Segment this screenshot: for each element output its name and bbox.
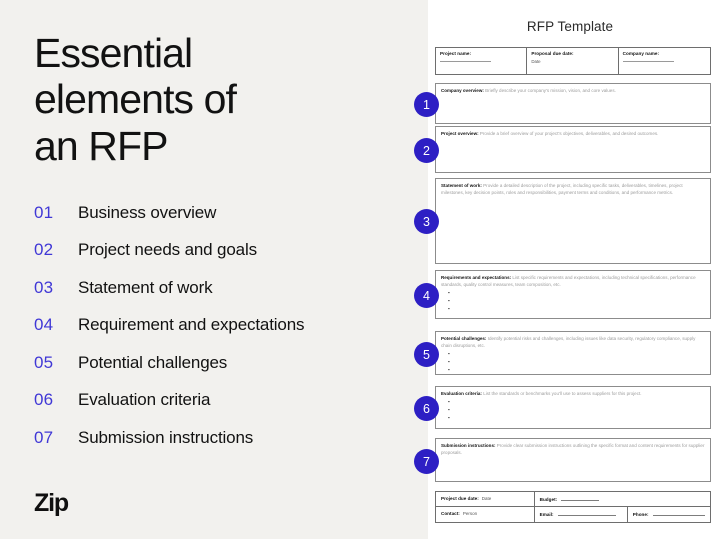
section-bullet-list [448, 400, 705, 421]
section-body: Provide a brief overview of your project… [480, 131, 659, 136]
section-text: Evaluation criteria: List the standards … [441, 391, 705, 398]
field-value: Date [531, 59, 613, 64]
document-title: RFP Template [428, 0, 720, 34]
headline-line-1: Essential [34, 30, 364, 76]
footer-row-1: Project due date: Date Budget: [436, 492, 710, 507]
list-item: 03 Statement of work [34, 278, 402, 298]
section-requirements-and-expectations: 4 Requirements and expectations: List sp… [435, 270, 711, 319]
section-badge-5: 5 [414, 342, 439, 367]
left-content-panel: Essential elements of an RFP 01 Business… [0, 0, 428, 539]
list-item: 06 Evaluation criteria [34, 390, 402, 410]
field-blank-rule [653, 511, 705, 516]
template-footer-table: Project due date: Date Budget: Contact: … [435, 491, 711, 523]
field-blank-rule [561, 496, 599, 501]
section-title: Submission instructions: [441, 443, 495, 448]
field-label: Project due date: [441, 496, 479, 501]
section-badge-6: 6 [414, 396, 439, 421]
field-label: Budget: [540, 497, 558, 502]
section-text: Statement of work: Provide a detailed de… [441, 183, 705, 197]
list-item-label: Potential challenges [78, 353, 227, 373]
bullet-item [448, 368, 705, 373]
section-title: Project overview: [441, 131, 479, 136]
section-badge-4: 4 [414, 283, 439, 308]
headline-line-3: an RFP [34, 123, 364, 169]
header-field-project-name: Project name: [436, 48, 527, 74]
section-text: Company overview: Briefly describe your … [441, 88, 705, 95]
slide-root: Essential elements of an RFP 01 Business… [0, 0, 720, 539]
footer-field-contact: Contact: Person [436, 507, 535, 522]
section-body: List the standards or benchmarks you'll … [483, 391, 641, 396]
section-badge-7: 7 [414, 449, 439, 474]
list-item-label: Project needs and goals [78, 240, 257, 260]
field-label: Email: [540, 512, 554, 517]
list-item-number: 01 [34, 203, 78, 223]
field-label: Company name: [623, 51, 706, 57]
section-submission-instructions: 7 Submission instructions: Provide clear… [435, 438, 711, 482]
list-item: 04 Requirement and expectations [34, 315, 402, 335]
list-item-label: Statement of work [78, 278, 212, 298]
bullet-item [448, 299, 705, 304]
section-text: Requirements and expectations: List spec… [441, 275, 705, 289]
field-value: Date [482, 496, 492, 501]
section-title: Requirements and expectations: [441, 275, 511, 280]
section-bullet-list [448, 352, 705, 373]
section-title: Statement of work: [441, 183, 482, 188]
section-bullet-list [448, 291, 705, 312]
section-title: Company overview: [441, 88, 484, 93]
list-item: 02 Project needs and goals [34, 240, 402, 260]
section-statement-of-work: 3 Statement of work: Provide a detailed … [435, 178, 711, 264]
bullet-item [448, 416, 705, 421]
section-body: Briefly describe your company's mission,… [485, 88, 616, 93]
footer-field-project-due-date: Project due date: Date [436, 492, 535, 506]
header-field-proposal-due-date: Proposal due date: Date [527, 48, 618, 74]
bullet-item [448, 360, 705, 365]
field-blank-rule [440, 61, 491, 62]
section-potential-challenges: 5 Potential challenges: Identify potenti… [435, 331, 711, 375]
footer-row-2: Contact: Person Email: Phone: [436, 507, 710, 522]
footer-field-phone: Phone: [628, 507, 710, 522]
section-badge-3: 3 [414, 209, 439, 234]
list-item-number: 06 [34, 390, 78, 410]
section-company-overview: 1 Company overview: Briefly describe you… [435, 83, 711, 124]
field-blank-rule [623, 61, 675, 62]
list-item-number: 05 [34, 353, 78, 373]
template-header-table: Project name: Proposal due date: Date Co… [435, 47, 711, 75]
bullet-item [448, 400, 705, 405]
header-field-company-name: Company name: [619, 48, 710, 74]
list-item: 05 Potential challenges [34, 353, 402, 373]
list-item-number: 04 [34, 315, 78, 335]
field-label: Phone: [633, 512, 649, 517]
list-item-label: Submission instructions [78, 428, 253, 448]
rfp-template-preview: RFP Template Project name: Proposal due … [428, 0, 720, 539]
bullet-item [448, 307, 705, 312]
field-value: Person [463, 511, 477, 516]
bullet-item [448, 291, 705, 296]
section-title: Evaluation criteria: [441, 391, 482, 396]
bullet-item [448, 352, 705, 357]
field-blank-rule [558, 511, 616, 516]
footer-field-budget: Budget: [535, 492, 710, 506]
section-project-overview: 2 Project overview: Provide a brief over… [435, 126, 711, 173]
bullet-item [448, 408, 705, 413]
list-item-number: 03 [34, 278, 78, 298]
section-evaluation-criteria: 6 Evaluation criteria: List the standard… [435, 386, 711, 429]
section-text: Submission instructions: Provide clear s… [441, 443, 705, 457]
section-badge-2: 2 [414, 138, 439, 163]
section-title: Potential challenges: [441, 336, 486, 341]
list-item-label: Requirement and expectations [78, 315, 304, 335]
footer-field-email: Email: [535, 507, 628, 522]
list-item-number: 02 [34, 240, 78, 260]
section-text: Potential challenges: Identify potential… [441, 336, 705, 350]
field-label: Contact: [441, 511, 460, 516]
field-label: Proposal due date: [531, 51, 613, 57]
list-item-number: 07 [34, 428, 78, 448]
list-item-label: Evaluation criteria [78, 390, 210, 410]
zip-logo: Zip [34, 489, 68, 518]
list-item-label: Business overview [78, 203, 216, 223]
page-title: Essential elements of an RFP [34, 30, 364, 169]
field-label: Project name: [440, 51, 522, 57]
section-badge-1: 1 [414, 92, 439, 117]
rfp-elements-list: 01 Business overview 02 Project needs an… [34, 203, 402, 448]
section-text: Project overview: Provide a brief overvi… [441, 131, 705, 138]
list-item: 07 Submission instructions [34, 428, 402, 448]
headline-line-2: elements of [34, 76, 364, 122]
list-item: 01 Business overview [34, 203, 402, 223]
